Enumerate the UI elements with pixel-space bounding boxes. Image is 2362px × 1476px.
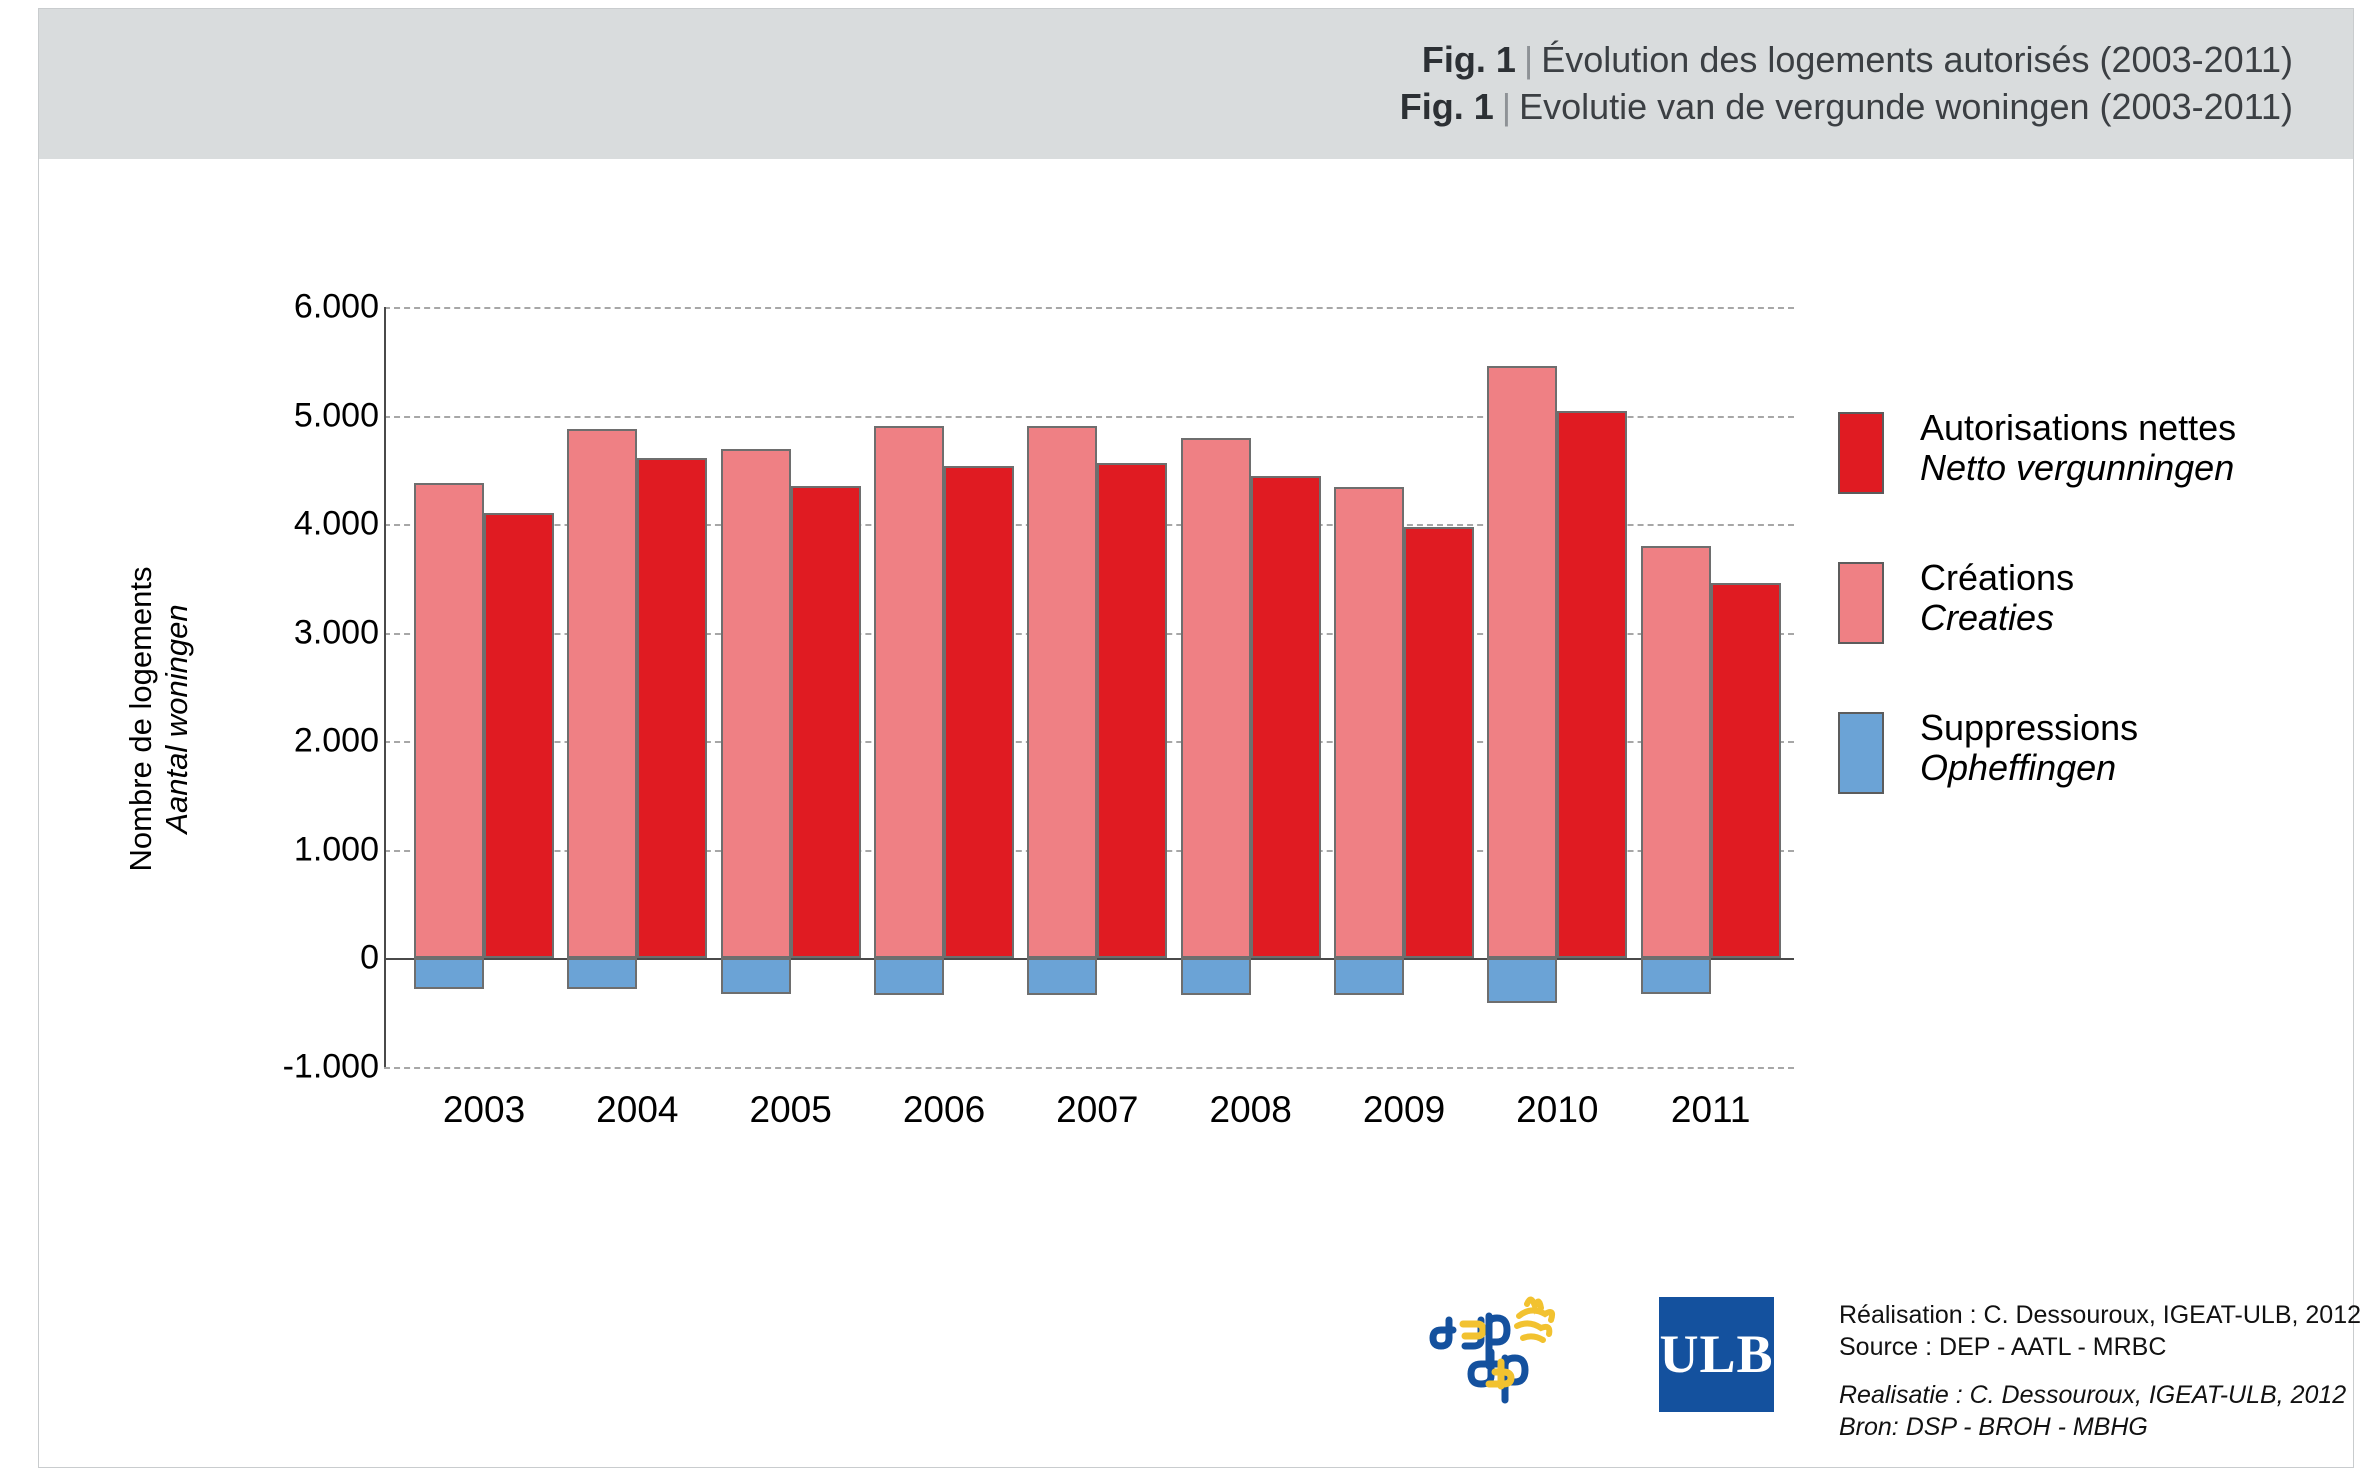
x-tick-label-2004: 2004 <box>596 1089 678 1131</box>
left-margin <box>0 0 38 1476</box>
title-separator-nl: | <box>1494 86 1519 127</box>
bar-creations-2011 <box>1641 546 1711 959</box>
legend-label-nl-creations: Creaties <box>1920 598 2318 638</box>
bar-creations-2008 <box>1181 438 1251 958</box>
bar-net-authorisations-2003 <box>484 513 554 958</box>
title-text-nl: Evolutie van de vergunde woningen (2003-… <box>1519 86 2293 127</box>
x-tick-label-2007: 2007 <box>1056 1089 1138 1131</box>
x-tick-label-2011: 2011 <box>1671 1089 1751 1131</box>
legend-swatch-suppressions <box>1838 712 1884 794</box>
ulb-logo-text: ULB <box>1659 1297 1774 1412</box>
credit-nl-line2: Bron: DSP - BROH - MBHG <box>1839 1411 2359 1443</box>
legend-label-fr-suppressions: Suppressions <box>1920 708 2318 748</box>
legend-label-nl-net: Netto vergunningen <box>1920 448 2318 488</box>
y-axis-line <box>384 307 386 1067</box>
credit-fr-line2: Source : DEP - AATL - MRBC <box>1839 1331 2359 1363</box>
bar-suppressions-2003 <box>414 958 484 988</box>
bar-suppressions-2008 <box>1181 958 1251 995</box>
x-tick-label-2006: 2006 <box>903 1089 985 1131</box>
bar-net-authorisations-2007 <box>1097 463 1167 958</box>
legend-label-fr-creations: Créations <box>1920 558 2318 598</box>
bar-suppressions-2010 <box>1487 958 1557 1003</box>
x-tick-label-2009: 2009 <box>1363 1089 1445 1131</box>
legend-item-suppressions[interactable]: SuppressionsOpheffingen <box>1838 708 2318 800</box>
bar-suppressions-2004 <box>567 958 637 988</box>
legend-label-fr-net: Autorisations nettes <box>1920 408 2318 448</box>
bar-creations-2007 <box>1027 426 1097 958</box>
bar-net-authorisations-2004 <box>637 458 707 959</box>
bar-net-authorisations-2006 <box>944 466 1014 959</box>
bar-suppressions-2006 <box>874 958 944 995</box>
bar-suppressions-2007 <box>1027 958 1097 995</box>
legend-swatch-creations <box>1838 562 1884 644</box>
gridline--1.000 <box>384 1067 1794 1069</box>
bar-creations-2009 <box>1334 487 1404 958</box>
bar-suppressions-2011 <box>1641 958 1711 994</box>
title-line-nl: Fig. 1|Evolutie van de vergunde woningen… <box>1400 84 2293 131</box>
bar-net-authorisations-2005 <box>791 486 861 958</box>
figure-footer: ULB Réalisation : C. Dessouroux, IGEAT-U… <box>39 1289 2353 1464</box>
legend-item-net[interactable]: Autorisations nettesNetto vergunningen <box>1838 408 2318 500</box>
x-tick-label-2005: 2005 <box>750 1089 832 1131</box>
title-line-fr: Fig. 1|Évolution des logements autorisés… <box>1400 37 2293 84</box>
figure-page: Fig. 1|Évolution des logements autorisés… <box>0 0 2362 1476</box>
bar-net-authorisations-2011 <box>1711 583 1781 959</box>
bar-net-authorisations-2010 <box>1557 411 1627 958</box>
title-text-fr: Évolution des logements autorisés (2003-… <box>1541 39 2293 80</box>
bar-creations-2003 <box>414 483 484 959</box>
legend-item-creations[interactable]: CréationsCreaties <box>1838 558 2318 650</box>
gridline-6.000 <box>384 307 1794 309</box>
header-titles: Fig. 1|Évolution des logements autorisés… <box>1400 37 2293 131</box>
x-tick-label-2008: 2008 <box>1210 1089 1292 1131</box>
dep-dsp-logo-icon <box>1419 1290 1619 1410</box>
fig-label-fr: Fig. 1 <box>1422 39 1516 80</box>
fig-label-nl: Fig. 1 <box>1400 86 1494 127</box>
x-tick-label-2003: 2003 <box>443 1089 525 1131</box>
legend-swatch-net <box>1838 412 1884 494</box>
bar-suppressions-2005 <box>721 958 791 994</box>
credits-block: Réalisation : C. Dessouroux, IGEAT-ULB, … <box>1839 1299 2359 1443</box>
bar-creations-2006 <box>874 426 944 958</box>
bar-suppressions-2009 <box>1334 958 1404 995</box>
credit-nl-line1: Realisatie : C. Dessouroux, IGEAT-ULB, 2… <box>1839 1379 2359 1411</box>
ulb-logo: ULB <box>1659 1297 1774 1412</box>
bar-creations-2005 <box>721 449 791 958</box>
credit-fr-line1: Réalisation : C. Dessouroux, IGEAT-ULB, … <box>1839 1299 2359 1331</box>
chart-legend: Autorisations nettesNetto vergunningenCr… <box>1838 408 2318 858</box>
legend-label-nl-suppressions: Opheffingen <box>1920 748 2318 788</box>
bar-creations-2004 <box>567 429 637 959</box>
bar-net-authorisations-2009 <box>1404 527 1474 958</box>
bar-creations-2010 <box>1487 366 1557 959</box>
bar-net-authorisations-2008 <box>1251 476 1321 958</box>
dep-dsp-logo <box>1419 1290 1619 1410</box>
figure-header: Fig. 1|Évolution des logements autorisés… <box>39 9 2353 159</box>
x-tick-label-2010: 2010 <box>1516 1089 1598 1131</box>
title-separator-fr: | <box>1516 39 1541 80</box>
